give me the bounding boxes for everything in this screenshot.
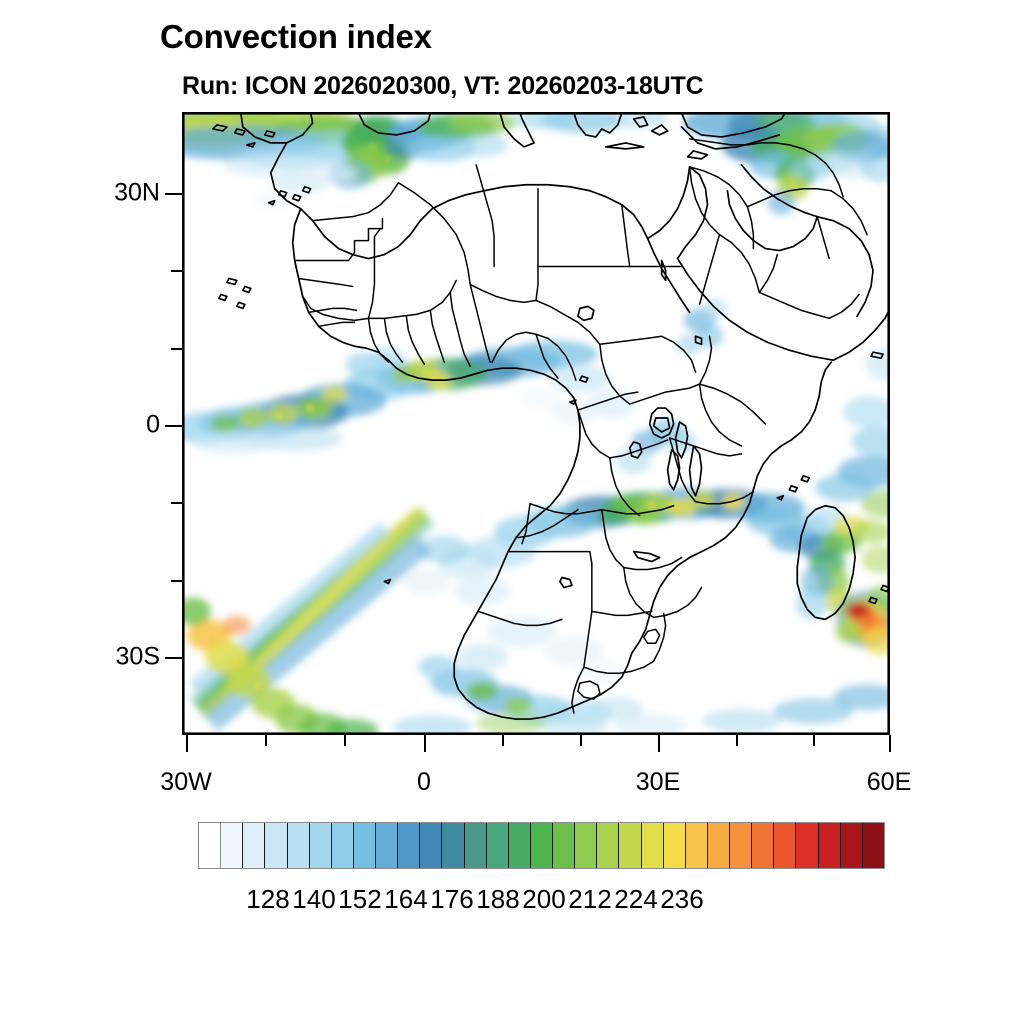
x-axis-label-60e: 60E	[867, 768, 911, 797]
colorbar-cell-0	[199, 823, 221, 868]
colorbar-cell-29	[841, 823, 863, 868]
page-title: Convection index	[160, 18, 432, 56]
colorbar-label-128: 128	[246, 884, 289, 915]
x-axis-label-0: 0	[417, 768, 431, 797]
x-tick-20e	[580, 735, 582, 746]
page-subtitle: Run: ICON 2026020300, VT: 20260203-18UTC	[182, 72, 703, 101]
colorbar-cell-3	[265, 823, 287, 868]
x-tick-30e	[658, 735, 660, 752]
colorbar-cell-27	[796, 823, 818, 868]
y-tick-30s	[165, 657, 182, 659]
y-axis-label-30s: 30S	[98, 643, 160, 672]
colorbar-cell-22	[686, 823, 708, 868]
colorbar-label-224: 224	[614, 884, 657, 915]
colorbar-label-200: 200	[522, 884, 565, 915]
y-axis-label-0: 0	[98, 411, 160, 440]
colorbar-cell-11	[442, 823, 464, 868]
y-tick-20n	[171, 270, 182, 272]
colorbar-cell-14	[509, 823, 531, 868]
colorbar-cell-26	[774, 823, 796, 868]
colorbar-cell-4	[288, 823, 310, 868]
colorbar-cell-18	[597, 823, 619, 868]
colorbar-label-152: 152	[338, 884, 381, 915]
x-tick-30w	[186, 735, 188, 752]
y-tick-20s	[171, 580, 182, 582]
y-tick-30n	[165, 193, 182, 195]
colorbar-label-212: 212	[568, 884, 611, 915]
x-axis-label-30e: 30E	[636, 768, 680, 797]
x-tick-50e	[813, 735, 815, 746]
x-tick-10e	[502, 735, 504, 746]
colorbar-cell-10	[420, 823, 442, 868]
colorbar-cell-1	[221, 823, 243, 868]
colorbar-cell-5	[310, 823, 332, 868]
colorbar-cell-25	[752, 823, 774, 868]
colorbar-cell-12	[465, 823, 487, 868]
x-tick-60e	[889, 735, 891, 752]
colorbar-cell-17	[575, 823, 597, 868]
colorbar-cell-23	[708, 823, 730, 868]
x-tick-40e	[736, 735, 738, 746]
colorbar-cell-20	[642, 823, 664, 868]
colorbar-cell-2	[243, 823, 265, 868]
colorbar-cell-30	[863, 823, 884, 868]
colorbar[interactable]	[198, 822, 885, 869]
x-tick-0	[424, 735, 426, 752]
y-tick-10s	[171, 502, 182, 504]
map-canvas	[183, 113, 889, 734]
colorbar-cell-7	[354, 823, 376, 868]
y-tick-0	[165, 425, 182, 427]
colorbar-cell-13	[487, 823, 509, 868]
x-axis-label-30w: 30W	[160, 768, 211, 797]
x-tick-10w	[344, 735, 346, 746]
colorbar-cell-16	[553, 823, 575, 868]
convection-index-figure: Convection index Run: ICON 2026020300, V…	[0, 0, 1024, 1024]
y-tick-10n	[171, 348, 182, 350]
colorbar-cell-9	[398, 823, 420, 868]
colorbar-cell-28	[819, 823, 841, 868]
colorbar-label-188: 188	[476, 884, 519, 915]
y-axis-label-30n: 30N	[98, 179, 160, 208]
colorbar-cell-15	[531, 823, 553, 868]
colorbar-label-176: 176	[430, 884, 473, 915]
colorbar-cell-21	[664, 823, 686, 868]
map-plot-area[interactable]	[182, 112, 890, 735]
colorbar-cell-6	[332, 823, 354, 868]
colorbar-label-236: 236	[660, 884, 703, 915]
colorbar-cell-24	[730, 823, 752, 868]
colorbar-cell-19	[619, 823, 641, 868]
colorbar-cell-8	[376, 823, 398, 868]
x-tick-20w	[265, 735, 267, 746]
colorbar-label-164: 164	[384, 884, 427, 915]
colorbar-label-140: 140	[292, 884, 335, 915]
